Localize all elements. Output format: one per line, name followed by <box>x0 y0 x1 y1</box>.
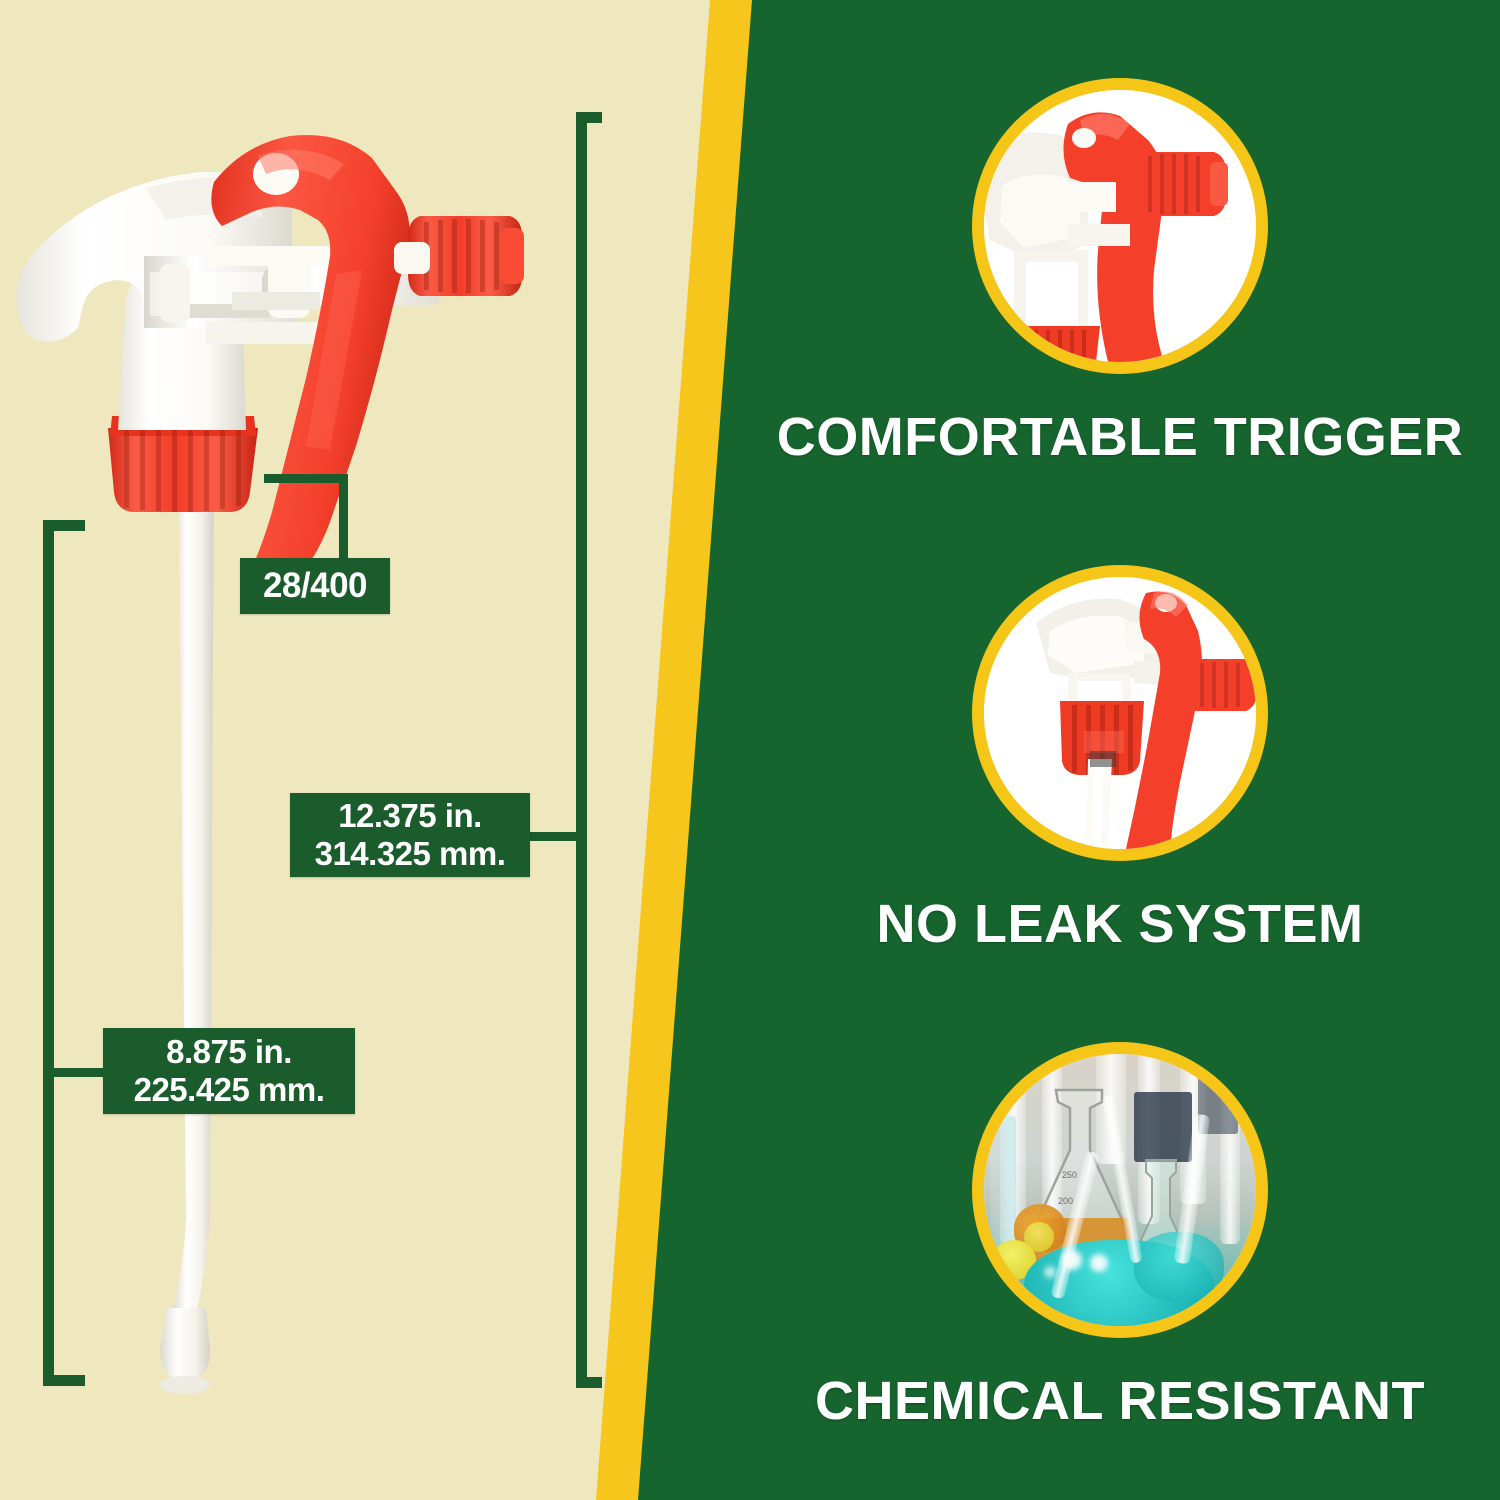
callout-dip-tube-mm: 225.425 mm. <box>134 1071 325 1109</box>
neck-finish-leader-horizontal <box>264 474 348 483</box>
callout-overall-length: 12.375 in. 314.325 mm. <box>290 793 530 877</box>
dip-tube-bracket-top <box>43 520 85 531</box>
callout-dip-tube-length: 8.875 in. 225.425 mm. <box>103 1028 355 1114</box>
lab-scene: 250 200 <box>984 1054 1256 1326</box>
overall-length-bracket-bottom <box>576 1377 602 1388</box>
callout-dip-tube-inches: 8.875 in. <box>166 1033 292 1071</box>
feature-1-ring <box>972 78 1268 374</box>
sprayer-cap-closeup-photo <box>984 577 1256 849</box>
callout-overall-length-mm: 314.325 mm. <box>315 835 506 873</box>
laboratory-glassware-photo: 250 200 <box>984 1054 1256 1326</box>
feature-2-title: NO LEAK SYSTEM <box>740 893 1500 955</box>
trigger-closeup-art <box>984 90 1256 362</box>
feature-chemical-resistant: 250 200 <box>740 1042 1500 1432</box>
dip-tube-bracket-bottom <box>43 1375 85 1386</box>
overall-length-bracket-line <box>576 112 587 1388</box>
callout-overall-length-inches: 12.375 in. <box>338 797 482 835</box>
callout-neck-finish: 28/400 <box>240 558 390 614</box>
feature-3-ring: 250 200 <box>972 1042 1268 1338</box>
feature-comfortable-trigger: COMFORTABLE TRIGGER <box>740 78 1500 468</box>
dip-tube-connector <box>48 1068 110 1077</box>
neck-finish-leader-vertical <box>339 474 348 562</box>
no-leak-closeup-art <box>984 577 1256 849</box>
trigger-closeup-photo <box>984 90 1256 362</box>
dip-tube-bracket-line <box>43 520 54 1386</box>
trigger-sprayer-illustration <box>0 60 700 1500</box>
feature-1-title: COMFORTABLE TRIGGER <box>740 406 1500 468</box>
overall-length-connector <box>525 832 583 841</box>
infographic-canvas: 28/400 12.375 in. 314.325 mm. 8.875 in. … <box>0 0 1500 1500</box>
overall-length-bracket-top <box>576 112 602 123</box>
svg-text:250: 250 <box>1062 1170 1077 1180</box>
svg-text:200: 200 <box>1058 1196 1073 1206</box>
feature-no-leak-system: NO LEAK SYSTEM <box>740 565 1500 955</box>
feature-3-title: CHEMICAL RESISTANT <box>740 1370 1500 1432</box>
callout-neck-finish-label: 28/400 <box>263 566 367 607</box>
feature-2-ring <box>972 565 1268 861</box>
